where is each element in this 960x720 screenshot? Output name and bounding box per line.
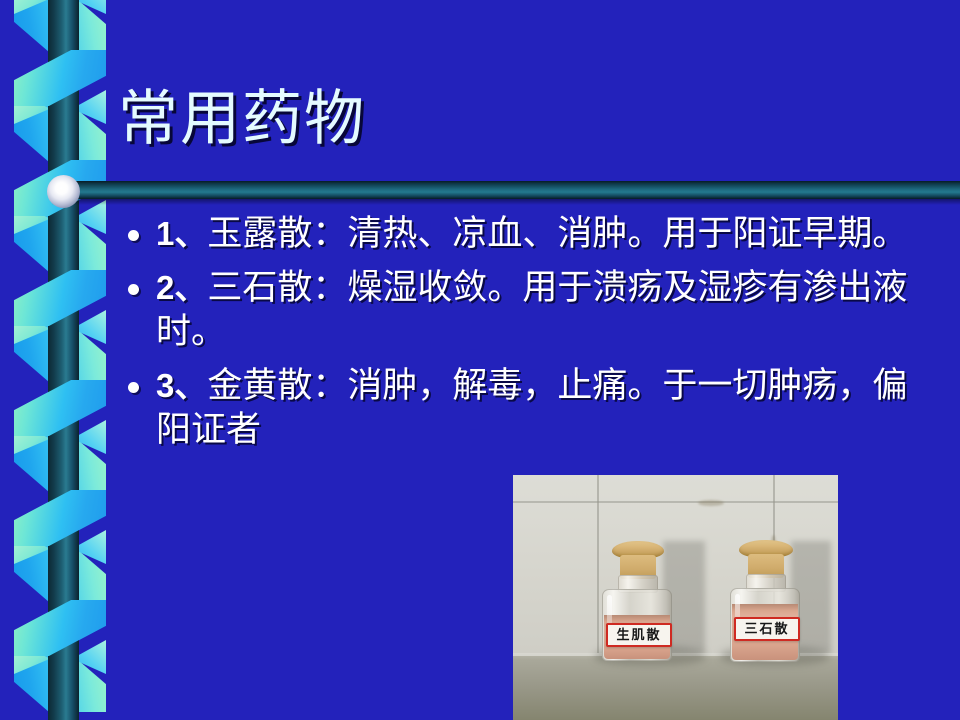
list-item: 2、三石散：燥湿收敛。用于溃疡及湿疹有渗出液时。 [120,266,940,354]
bottle-label-left-text: 生肌散 [616,629,661,642]
page-title: 常用药物 [118,88,366,151]
title-divider-shadow [52,199,960,205]
bullet-dot-icon [128,284,139,295]
bottle-right: 三石散 [730,540,800,662]
list-item-text: 金黄散：消肿，解毒，止痛。于一切肿疡，偏阳证者 [156,366,907,449]
ribbon-decoration [0,0,112,720]
bottle-label-left: 生肌散 [606,623,672,647]
bottle-label-right: 三石散 [734,617,800,641]
bullet-dot-icon [128,230,139,241]
list-item-number: 2、 [156,269,207,306]
glow-sphere-icon [47,175,80,208]
medicine-bottles-photo: 生肌散 三石散 [513,475,838,720]
list-item-number: 1、 [156,215,207,252]
list-item-number: 3、 [156,367,207,404]
bullet-list: 1、玉露散：清热、凉血、消肿。用于阳证早期。 2、三石散：燥湿收敛。用于溃疡及湿… [120,212,940,462]
list-item: 1、玉露散：清热、凉血、消肿。用于阳证早期。 [120,212,940,256]
list-item-text: 三石散：燥湿收敛。用于溃疡及湿疹有渗出液时。 [156,268,907,351]
list-item-text: 玉露散：清热、凉血、消肿。用于阳证早期。 [207,214,907,253]
bottle-label-right-text: 三石散 [744,623,789,636]
list-item: 3、金黄散：消肿，解毒，止痛。于一切肿疡，偏阳证者 [120,364,940,452]
title-divider-bar [52,181,960,199]
presentation-slide: 常用药物 1、玉露散：清热、凉血、消肿。用于阳证早期。 2、三石散：燥湿收敛。用… [0,0,960,720]
bottle-left: 生肌散 [602,541,672,661]
bullet-dot-icon [128,382,139,393]
